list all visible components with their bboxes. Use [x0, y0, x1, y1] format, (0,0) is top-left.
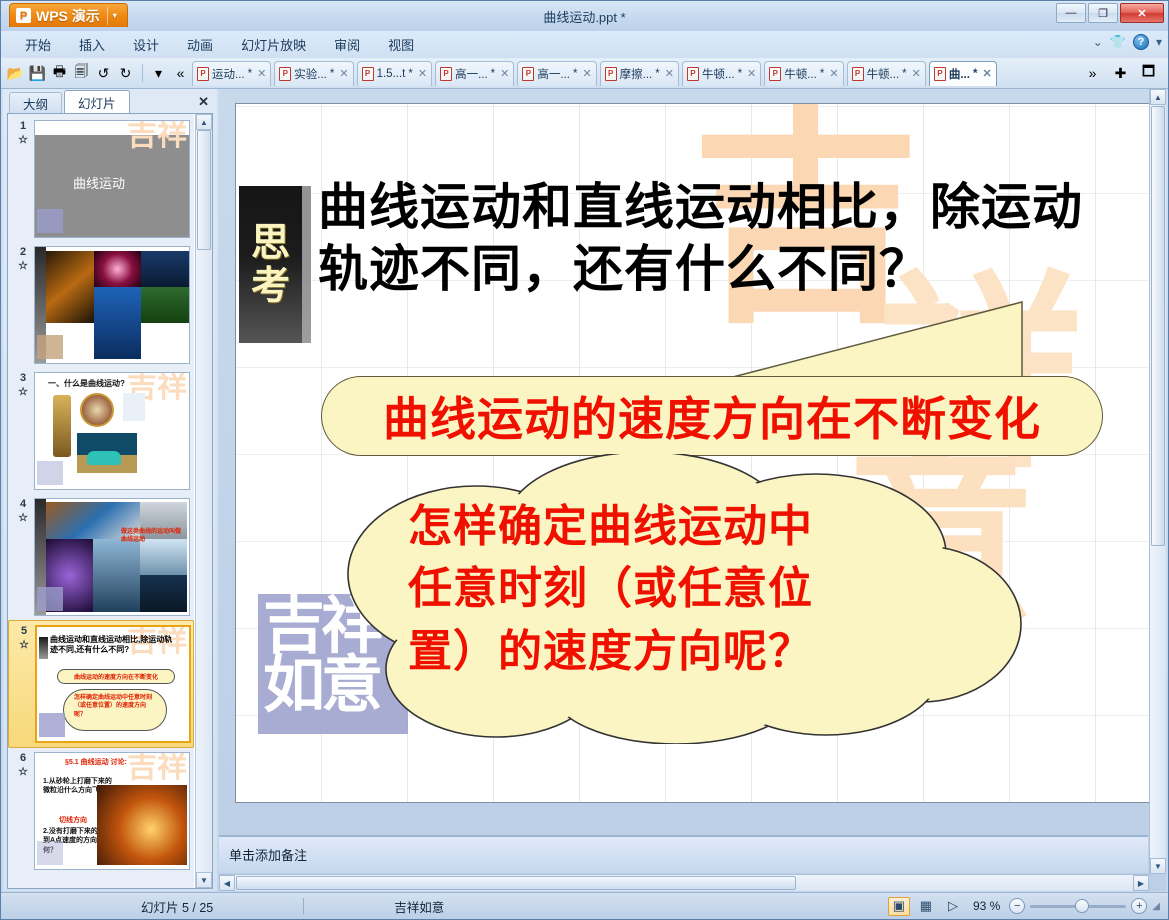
document-tab-label: 牛顿...: [702, 66, 735, 82]
zoom-level-label: 93 %: [973, 899, 1000, 913]
zoom-in-button[interactable]: +: [1131, 898, 1147, 914]
document-tab[interactable]: P 摩擦... * ✕: [600, 61, 679, 86]
title-bar: P WPS 演示 ▾ 曲线运动.ppt * — ❐ ✕: [1, 1, 1168, 31]
close-icon[interactable]: ✕: [255, 67, 266, 80]
maximize-button[interactable]: ❐: [1088, 3, 1118, 23]
close-icon[interactable]: ✕: [980, 67, 991, 80]
toolbar-and-document-tabs: 📂 💾 🖶 🗐 ↺ ↻ ▾ « P 运动... * ✕ P 实验... * ✕ …: [1, 58, 1168, 89]
scroll-right-icon[interactable]: ▶: [1133, 875, 1149, 891]
list-item-selected[interactable]: 5 ☆ 吉祥 曲线运动和直线运动相比,除运动轨迹不同,还有什么不同? 曲线运动的…: [8, 620, 194, 748]
document-tab-modified: *: [738, 68, 742, 80]
close-icon[interactable]: ✕: [745, 67, 756, 80]
document-tab-label: 高一...: [455, 66, 488, 82]
skin-shirt-icon[interactable]: 👕: [1110, 34, 1126, 50]
document-tab[interactable]: P 牛顿... * ✕: [682, 61, 761, 86]
save-icon[interactable]: 💾: [27, 63, 48, 84]
menu-item-insert[interactable]: 插入: [65, 32, 119, 57]
scroll-down-icon[interactable]: ▼: [1150, 858, 1166, 874]
window-list-icon[interactable]: 🗖: [1138, 63, 1159, 84]
document-tab-modified: *: [330, 68, 334, 80]
seal-stamp: [37, 587, 63, 611]
thumbnail-scrollbar[interactable]: ▲ ▼: [195, 114, 212, 888]
powerpoint-file-icon: P: [362, 67, 374, 81]
menu-item-design[interactable]: 设计: [119, 32, 173, 57]
wps-presentation-window: P WPS 演示 ▾ 曲线运动.ppt * — ❐ ✕ 开始 插入 设计 动画 …: [0, 0, 1169, 920]
scroll-up-icon[interactable]: ▲: [1150, 89, 1166, 105]
thumbnail-title: 曲线运动和直线运动相比,除运动轨迹不同,还有什么不同?: [50, 635, 178, 656]
menu-item-animation[interactable]: 动画: [173, 32, 227, 57]
thumbnail-number: 6: [12, 752, 34, 766]
powerpoint-file-icon: P: [522, 67, 534, 81]
thumbnail-list: 1 ☆ 吉祥 曲线运动 2 ☆: [7, 113, 213, 889]
zoom-slider-knob[interactable]: [1075, 899, 1089, 913]
document-tab-modified: *: [573, 68, 577, 80]
cloud-line-3: 置）的速度方向呢？: [408, 621, 928, 683]
close-button[interactable]: ✕: [1120, 3, 1164, 23]
scroll-tabs-left-icon[interactable]: «: [170, 63, 191, 84]
close-icon[interactable]: ✕: [910, 67, 921, 80]
thumbnail-title: 一、什么是曲线运动?: [48, 378, 125, 389]
undo-icon[interactable]: ↺: [93, 63, 114, 84]
document-tab-label: 牛顿...: [867, 66, 900, 82]
tab-outline[interactable]: 大纲: [9, 92, 62, 113]
seal-stamp: [37, 335, 63, 359]
list-item[interactable]: 6 ☆ 吉祥 §5.1 曲线运动 讨论: 1.从砂轮上打磨下来的微粒沿什么方向飞…: [8, 748, 194, 874]
menu-bar-right-icons: ⌄ 👕 ? ▾: [1093, 34, 1162, 50]
document-tab-modified: *: [973, 68, 977, 80]
resize-grip-icon[interactable]: ◢: [1152, 901, 1160, 912]
tab-slides[interactable]: 幻灯片: [64, 90, 130, 113]
cloud-line-2: 任意时刻（或任意位: [408, 558, 928, 620]
document-tab-label: 1.5...t: [377, 68, 406, 80]
thumbnail-number: 2: [12, 246, 34, 260]
star-icon: ☆: [12, 512, 34, 526]
minimize-button[interactable]: —: [1056, 3, 1086, 23]
notes-placeholder: 单击添加备注: [229, 848, 307, 863]
thumbnail-preview-active[interactable]: 吉祥 曲线运动和直线运动相比,除运动轨迹不同,还有什么不同? 曲线运动的速度方向…: [35, 625, 191, 743]
document-tab-label: 运动...: [212, 66, 245, 82]
help-icon[interactable]: ?: [1133, 34, 1149, 50]
document-tab[interactable]: P 1.5...t * ✕: [357, 61, 432, 86]
document-tab[interactable]: P 牛顿... * ✕: [847, 61, 926, 86]
close-icon[interactable]: ✕: [580, 67, 591, 80]
document-tab[interactable]: P 牛顿... * ✕: [764, 61, 843, 86]
status-right-controls: ▣ ▦ ▷ 93 % − + ◢: [888, 897, 1168, 916]
powerpoint-file-icon: P: [605, 67, 617, 81]
menu-item-home[interactable]: 开始: [11, 32, 65, 57]
slideshow-button[interactable]: ▷: [942, 897, 964, 916]
normal-view-button[interactable]: ▣: [888, 897, 910, 916]
help-dropdown-icon[interactable]: ▾: [1156, 35, 1162, 49]
tabstrip-right-controls: » ✚ 🗖: [1082, 63, 1168, 84]
scrollbar-thumb[interactable]: [197, 130, 211, 250]
slide-canvas[interactable]: 吉 祥 意 吉祥如意 思 考 曲线运动和直线运动相比，除运动轨迹不同，还有什么不…: [235, 103, 1150, 803]
document-tab-modified: *: [491, 68, 495, 80]
chevron-down-icon[interactable]: ⌄: [1093, 35, 1103, 49]
panel-tab-bar: 大纲 幻灯片 ✕: [3, 89, 217, 113]
document-tab-modified: *: [408, 68, 412, 80]
thumbnail-number: 5: [13, 625, 35, 639]
think-label-box[interactable]: 思 考: [239, 186, 311, 343]
thumbnail-number: 4: [12, 498, 34, 512]
powerpoint-file-icon: P: [769, 67, 781, 81]
scroll-down-icon[interactable]: ▼: [196, 872, 212, 888]
callout-pointer: [706, 284, 1026, 384]
powerpoint-file-icon: P: [279, 67, 291, 81]
document-tab-label: 实验...: [294, 66, 327, 82]
print-icon[interactable]: 🖶: [49, 63, 70, 84]
scroll-left-icon[interactable]: ◀: [219, 875, 235, 891]
thumbnail-preview[interactable]: [34, 246, 190, 364]
close-icon[interactable]: ✕: [663, 67, 674, 80]
scroll-tabs-right-icon[interactable]: »: [1082, 63, 1103, 84]
zoom-slider[interactable]: [1030, 905, 1126, 908]
thumbnail-title: §5.1 曲线运动 讨论:: [65, 757, 127, 767]
think-char-1: 思: [251, 222, 290, 264]
seal-stamp: [37, 461, 63, 485]
close-icon[interactable]: ✕: [498, 67, 509, 80]
watermark: 吉祥: [127, 122, 187, 149]
slides-panel: 大纲 幻灯片 ✕ 1 ☆ 吉祥 曲线运动: [3, 89, 217, 891]
star-icon: ☆: [12, 766, 34, 780]
powerpoint-file-icon: P: [687, 67, 699, 81]
think-char-2: 考: [251, 265, 290, 307]
powerpoint-file-icon: P: [852, 67, 864, 81]
document-tab[interactable]: P 高一... * ✕: [517, 61, 596, 86]
notes-pane[interactable]: 单击添加备注: [219, 835, 1148, 873]
theme-name-label: 吉祥如意: [394, 897, 444, 916]
star-icon: ☆: [12, 260, 34, 274]
answer-callout-text: 曲线运动的速度方向在不断变化: [383, 383, 1041, 449]
close-icon[interactable]: ✕: [416, 67, 427, 80]
answer-callout[interactable]: 曲线运动的速度方向在不断变化: [321, 376, 1103, 456]
menu-item-view[interactable]: 视图: [374, 32, 428, 57]
list-item[interactable]: 1 ☆ 吉祥 曲线运动: [8, 116, 194, 242]
open-icon[interactable]: 📂: [5, 63, 26, 84]
thumbnail-title: 曲线运动: [73, 173, 125, 192]
powerpoint-file-icon: P: [440, 67, 452, 81]
document-tab-modified: *: [902, 68, 906, 80]
scrollbar-thumb[interactable]: [236, 876, 796, 890]
toolbar-divider: [142, 64, 143, 82]
document-tab[interactable]: P 实验... * ✕: [274, 61, 353, 86]
thumbnail-cloud: 怎样确定曲线运动中任意时刻（或任意位置）的速度方向呢？: [63, 689, 167, 731]
menu-item-slideshow[interactable]: 幻灯片放映: [227, 32, 320, 57]
status-bar: 幻灯片 5 / 25 吉祥如意 ▣ ▦ ▷ 93 % − + ◢: [1, 892, 1168, 919]
seal-stamp: [37, 209, 63, 233]
powerpoint-file-icon: P: [934, 67, 946, 81]
menu-bar: 开始 插入 设计 动画 幻灯片放映 审阅 视图 ⌄ 👕 ? ▾: [1, 31, 1168, 58]
slide-vertical-scrollbar[interactable]: ▲ ▼: [1149, 89, 1166, 874]
zoom-out-button[interactable]: −: [1009, 898, 1025, 914]
thumbnail-number: 1: [12, 120, 34, 134]
print-preview-icon[interactable]: 🗐: [71, 63, 92, 84]
seal-stamp: [37, 841, 63, 865]
scroll-up-icon[interactable]: ▲: [196, 114, 212, 130]
slide-canvas-wrapper: 吉 祥 意 吉祥如意 思 考 曲线运动和直线运动相比，除运动轨迹不同，还有什么不…: [235, 103, 1150, 803]
document-tab-active[interactable]: P 曲... * ✕: [929, 61, 997, 86]
powerpoint-file-icon: P: [197, 67, 209, 81]
document-tab-modified: *: [820, 68, 824, 80]
new-tab-icon[interactable]: ✚: [1110, 63, 1131, 84]
document-tab-label: 牛顿...: [784, 66, 817, 82]
list-item[interactable]: 4 ☆: [8, 494, 194, 620]
document-tab-label: 摩擦...: [620, 66, 653, 82]
thumbnail-scroll-area[interactable]: 1 ☆ 吉祥 曲线运动 2 ☆: [8, 114, 194, 888]
star-icon: ☆: [13, 639, 35, 653]
document-tab-label: 高一...: [537, 66, 570, 82]
star-icon: ☆: [12, 386, 34, 400]
thumbnail-preview[interactable]: 做这类曲线的运动叫做曲线运动: [34, 498, 190, 616]
document-tab-label: 曲...: [949, 66, 970, 82]
list-item[interactable]: 3 ☆ 吉祥 一、什么是曲线运动?: [8, 368, 194, 494]
seal-stamp: [39, 713, 65, 737]
document-tab-modified: *: [655, 68, 659, 80]
cloud-line-1: 怎样确定曲线运动中: [408, 496, 928, 558]
cloud-callout-text: 怎样确定曲线运动中 任意时刻（或任意位 置）的速度方向呢？: [408, 496, 928, 683]
close-icon[interactable]: ✕: [198, 94, 209, 110]
watermark: 吉祥: [127, 754, 187, 781]
slide-count-label: 幻灯片 5 / 25: [141, 897, 213, 916]
thumbnail-number: 3: [12, 372, 34, 386]
slide-editing-area: 吉 祥 意 吉祥如意 思 考 曲线运动和直线运动相比，除运动轨迹不同，还有什么不…: [219, 89, 1166, 891]
document-tab[interactable]: P 运动... * ✕: [192, 61, 271, 86]
status-divider: [303, 898, 304, 914]
close-icon[interactable]: ✕: [337, 67, 348, 80]
thumbnail-callout: 曲线运动的速度方向在不断变化: [57, 669, 175, 684]
slide-question-text[interactable]: 曲线运动和直线运动相比，除运动轨迹不同，还有什么不同？: [318, 176, 1130, 300]
window-controls: — ❐ ✕: [1056, 3, 1164, 23]
document-title: 曲线运动.ppt *: [1, 7, 1168, 26]
more-dropdown-icon[interactable]: ▾: [148, 63, 169, 84]
slide-sorter-button[interactable]: ▦: [915, 897, 937, 916]
list-item[interactable]: 2 ☆: [8, 242, 194, 368]
menu-item-review[interactable]: 审阅: [320, 32, 374, 57]
scrollbar-thumb[interactable]: [1151, 106, 1165, 546]
close-icon[interactable]: ✕: [827, 67, 838, 80]
document-tab[interactable]: P 高一... * ✕: [435, 61, 514, 86]
redo-icon[interactable]: ↻: [115, 63, 136, 84]
thumbnail-title: 做这类曲线的运动叫做曲线运动: [121, 529, 185, 545]
cloud-callout[interactable]: 怎样确定曲线运动中 任意时刻（或任意位 置）的速度方向呢？: [346, 454, 1026, 744]
star-icon: ☆: [12, 134, 34, 148]
thumbnail-preview[interactable]: 吉祥 一、什么是曲线运动?: [34, 372, 190, 490]
thumbnail-preview[interactable]: 吉祥 §5.1 曲线运动 讨论: 1.从砂轮上打磨下来的微粒沿什么方向飞出？ 切…: [34, 752, 190, 870]
slide-horizontal-scrollbar[interactable]: ◀ ▶: [219, 874, 1149, 891]
thumbnail-preview[interactable]: 吉祥 曲线运动: [34, 120, 190, 238]
document-tab-modified: *: [248, 68, 252, 80]
